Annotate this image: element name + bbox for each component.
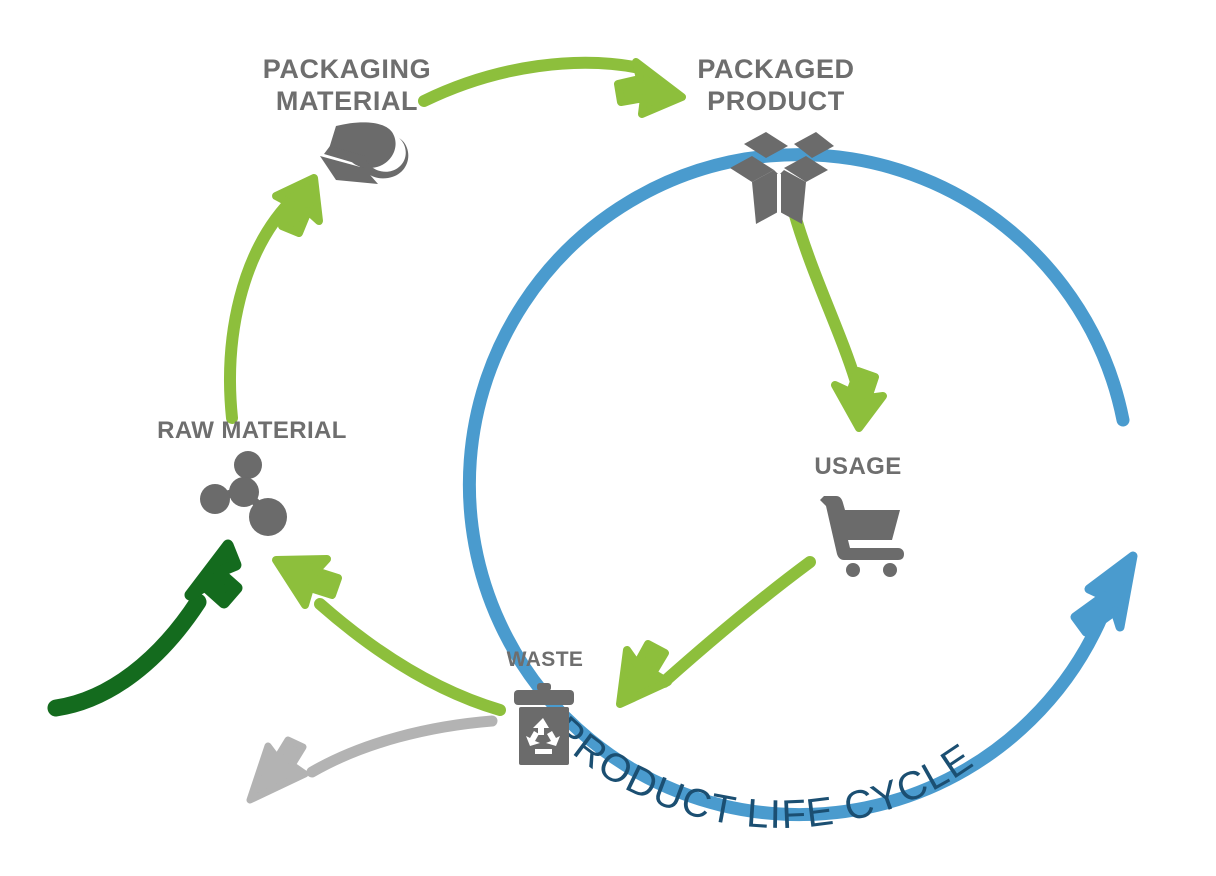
raw-material-label: RAW MATERIAL [157, 417, 347, 444]
packaged-product-label-line1: PACKAGED [697, 54, 854, 84]
connector-waste-to-raw [276, 559, 500, 710]
node-usage: USAGE [814, 453, 904, 577]
paper-roll-icon [320, 122, 408, 184]
product-life-cycle-diagram: PRODUCT LIFE CYCLE [0, 0, 1216, 876]
connector-waste-to-disposal [250, 721, 492, 800]
connector-packaged-to-usage [794, 212, 883, 428]
molecule-icon [200, 451, 287, 536]
cycle-ring-arrowhead [1075, 556, 1133, 632]
waste-label: WASTE [507, 648, 584, 671]
connector-usage-to-waste [620, 562, 810, 704]
diagram-canvas: PRODUCT LIFE CYCLE [0, 0, 1216, 876]
packaged-product-label-line2: PRODUCT [707, 86, 845, 116]
shopping-cart-icon [820, 496, 904, 577]
connector-raw-to-packaging [230, 178, 319, 418]
recycle-bin-icon [514, 683, 574, 765]
connector-input-to-raw [56, 545, 237, 708]
usage-label: USAGE [814, 453, 901, 480]
node-packaging-material: PACKAGING MATERIAL [263, 54, 431, 184]
packaging-material-label-line1: PACKAGING [263, 54, 431, 84]
node-raw-material: RAW MATERIAL [157, 417, 347, 536]
cycle-label: PRODUCT LIFE CYCLE [544, 708, 981, 837]
packaging-material-label-line2: MATERIAL [276, 86, 418, 116]
connector-packaging-to-packaged [424, 62, 682, 114]
node-packaged-product: PACKAGED PRODUCT [697, 54, 854, 224]
open-box-icon [730, 132, 834, 224]
